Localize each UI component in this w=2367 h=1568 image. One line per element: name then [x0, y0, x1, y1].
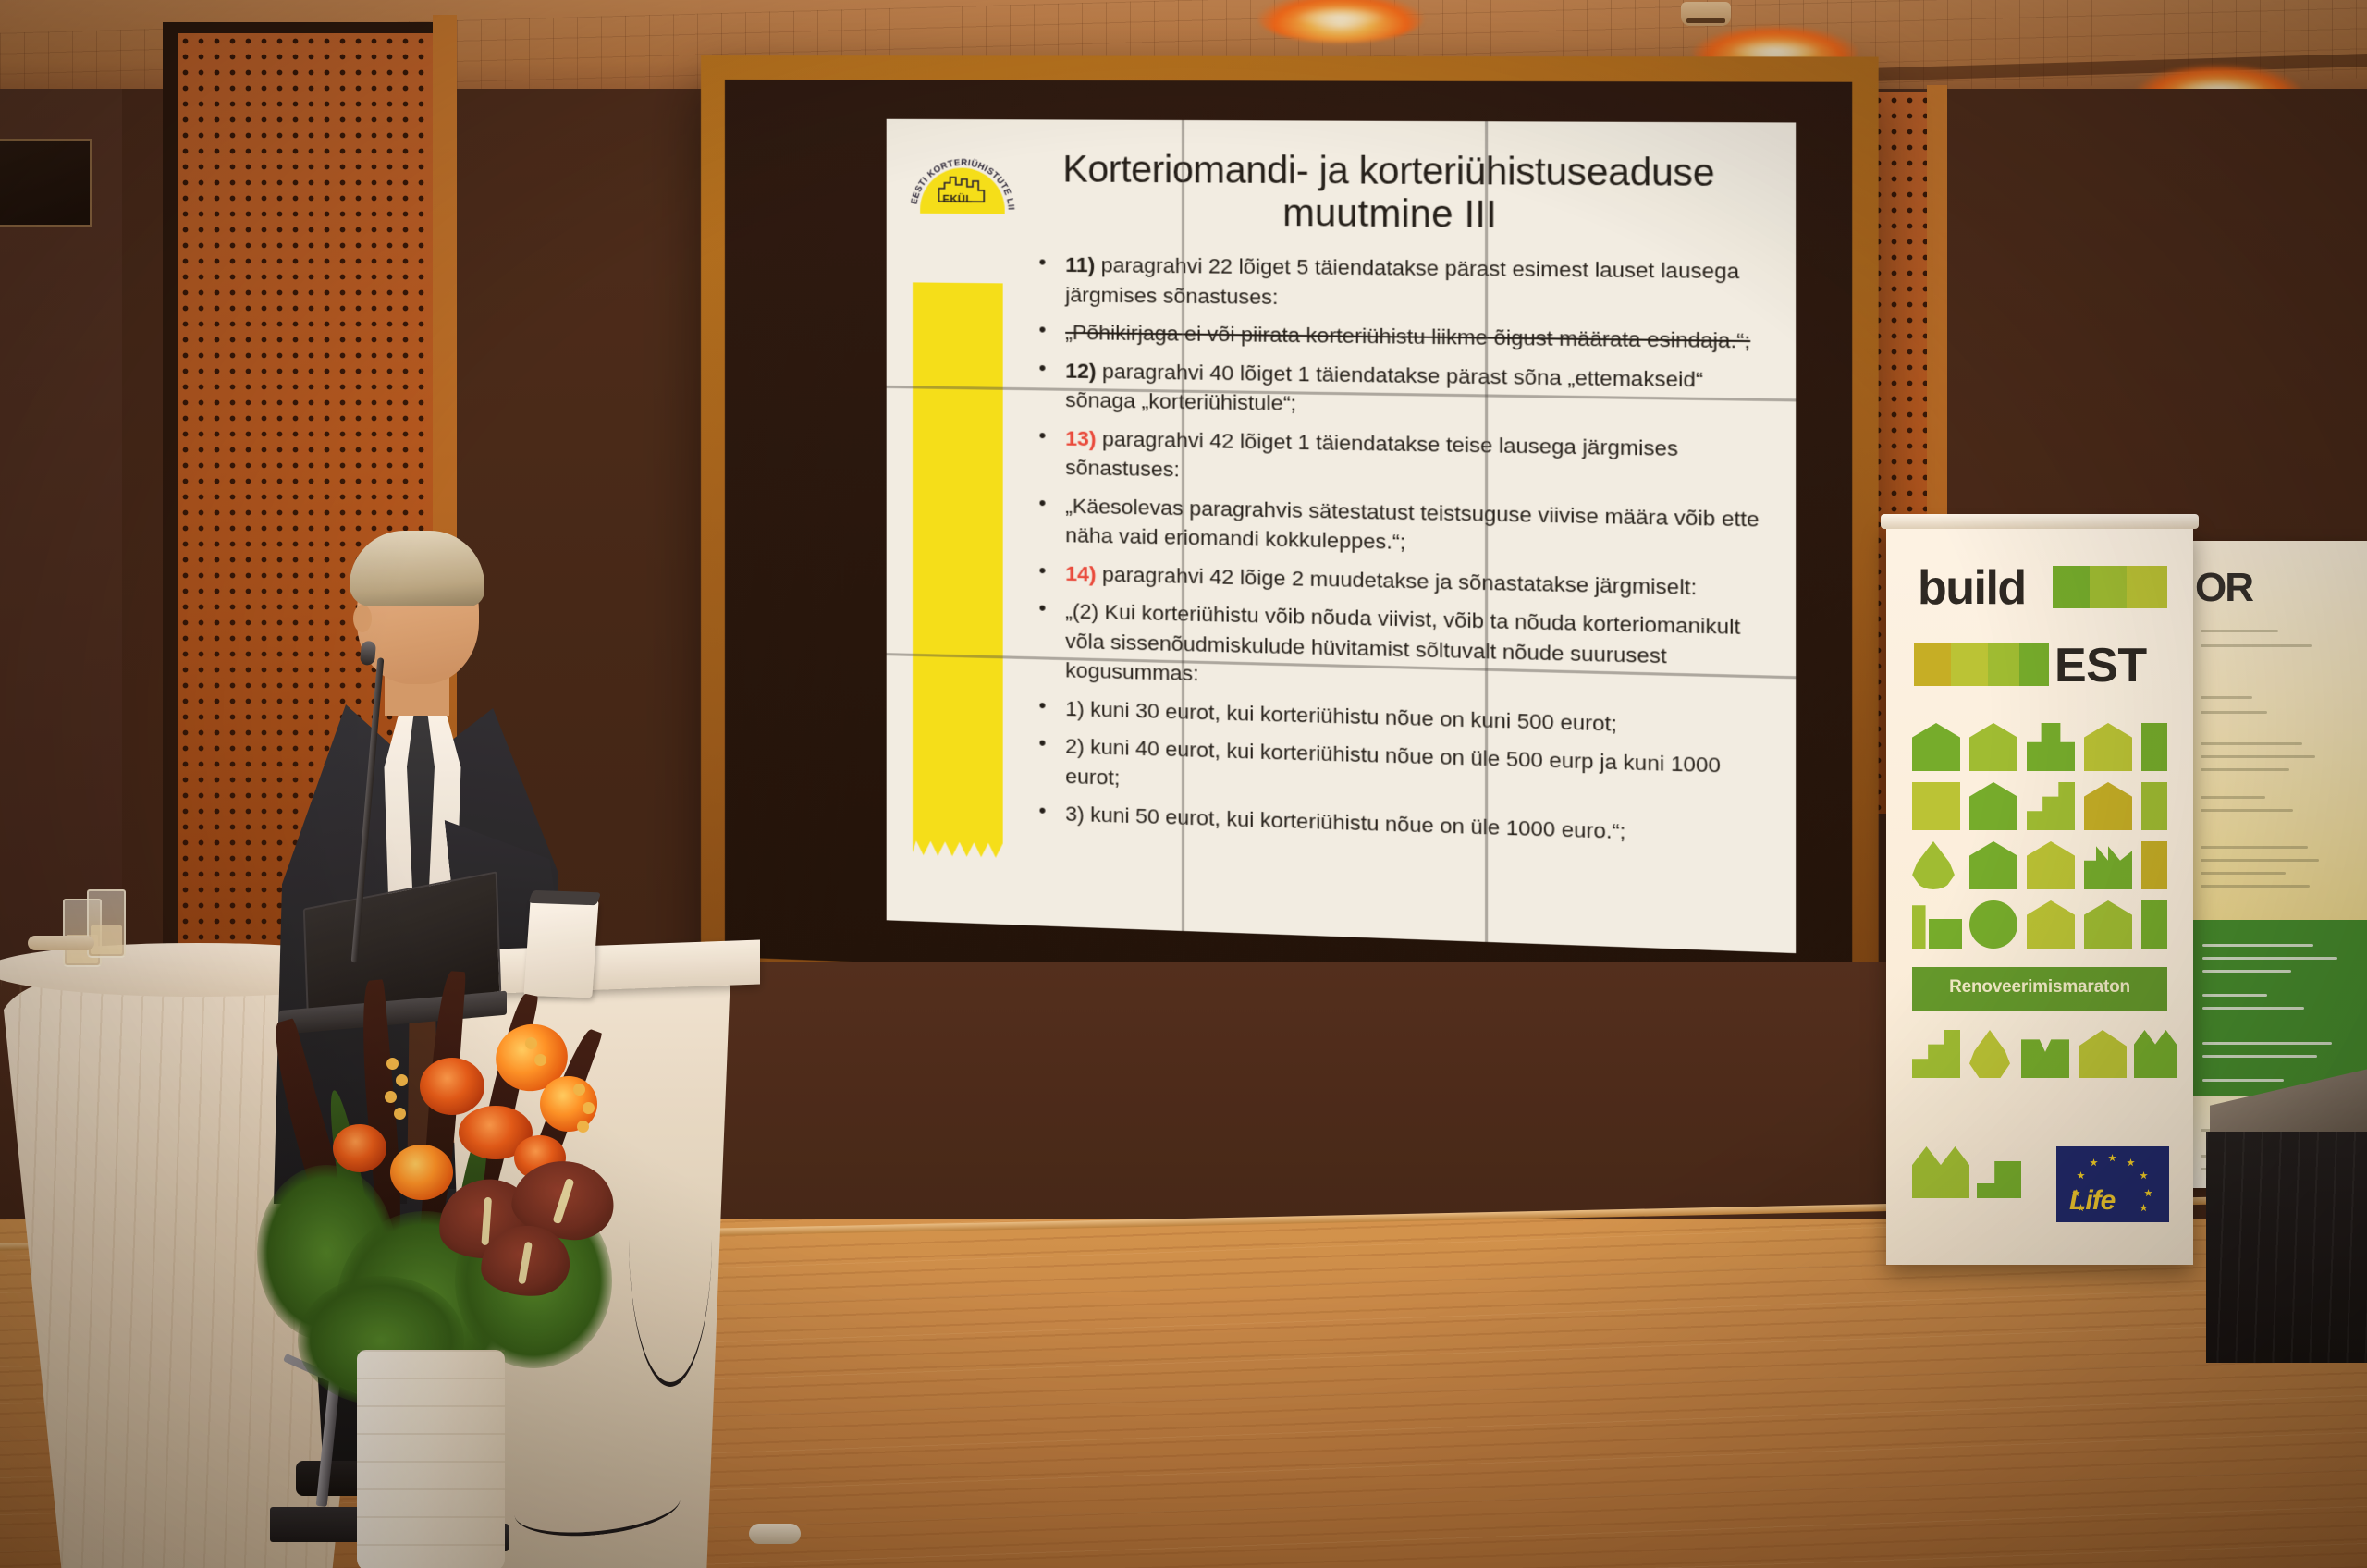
color-swatch: [2019, 643, 2049, 686]
side-table-skirt: [2206, 1132, 2367, 1363]
life-wordmark: Life: [2069, 1185, 2115, 1217]
presentation-slide: EESTI KORTERIÜHISTUTE LIIT EKÜL Korterio…: [887, 119, 1797, 953]
house-icon: [1969, 782, 2017, 830]
color-swatch: [1914, 643, 1951, 686]
building-icon: [2141, 841, 2167, 889]
color-swatch: [1951, 643, 1988, 686]
build-est-rollup-banner: build EST: [1886, 525, 2193, 1265]
berry-spray: [525, 1037, 537, 1049]
slide-title-line2: muutmine III: [1027, 191, 1761, 239]
banner-top-cap: [1881, 514, 2199, 529]
protea-bloom: [390, 1145, 453, 1200]
conference-hall-photo: EESTI KORTERIÜHISTUTE LIIT EKÜL Korterio…: [0, 0, 2367, 1568]
renovation-marathon-ribbon: Renoveerimismaraton: [1912, 967, 2167, 1011]
berry-spray: [394, 1108, 406, 1120]
eu-life-logo: Life: [2056, 1146, 2169, 1222]
chrysanthemum-bloom: [333, 1124, 386, 1172]
bullet-text: „Põhikirjaga ei või piirata korteriühist…: [1065, 321, 1750, 353]
smoke-detector-icon: [1681, 2, 1731, 26]
cable: [629, 1091, 712, 1387]
slide-bullet-item: „Käesolevas paragrahvis sätestatust teis…: [1027, 491, 1761, 566]
ribbon-label: Renoveerimismaraton: [1912, 977, 2167, 998]
house-icon: [2027, 841, 2075, 889]
berry-spray: [534, 1054, 546, 1066]
berry-spray: [396, 1074, 408, 1086]
tower-icon: [2027, 723, 2075, 771]
mic-base: [749, 1524, 801, 1544]
factory-icon: [2084, 841, 2132, 889]
stairs-icon: [2027, 782, 2075, 830]
slide-bullet-item: 13) paragrahvi 42 lõiget 1 täiendatakse …: [1027, 423, 1761, 496]
bullet-number: 13): [1065, 426, 1096, 450]
bezel-line-vertical: [1485, 121, 1488, 942]
napkin: [28, 936, 94, 950]
house-icon: [2084, 900, 2132, 949]
building-icon: [2141, 782, 2167, 830]
side-table: [2210, 1080, 2367, 1357]
bullet-number: 12): [1065, 359, 1096, 383]
bullet-text: 1) kuni 30 eurot, kui korteriühistu nõue…: [1065, 697, 1617, 736]
circle-icon: [1969, 900, 2017, 949]
flower-vase: [357, 1350, 505, 1568]
slide-content: Korteriomandi- ja korteriühistuseaduse m…: [887, 119, 1797, 953]
house-icon: [2027, 900, 2075, 949]
presenter-ear: [353, 605, 372, 632]
house-icon: [2084, 782, 2132, 830]
house-icon: [2084, 723, 2132, 771]
bullet-text: paragrahvi 40 lõiget 1 täiendatakse pära…: [1065, 360, 1703, 416]
bullet-text: „Käesolevas paragrahvis sätestatust teis…: [1065, 494, 1759, 554]
color-swatch: [2127, 566, 2167, 608]
color-swatch: [1988, 643, 2019, 686]
house-icon: [1969, 841, 2017, 889]
bullet-text: paragrahvi 42 lõiget 1 täiendatakse teis…: [1065, 427, 1678, 482]
slide-title-line1: Korteriomandi- ja korteriühistuseaduse: [1027, 144, 1761, 196]
slide-bullet-item: 14) paragrahvi 42 lõige 2 muudetakse ja …: [1027, 557, 1761, 604]
house-icon: [1969, 723, 2017, 771]
banner-word-build: build: [1918, 564, 2026, 612]
house-icon: [1912, 723, 1960, 771]
berry-spray: [577, 1121, 589, 1133]
bullet-text: 2) kuni 40 eurot, kui korteriühistu nõue…: [1065, 735, 1721, 790]
droplet-icon: [1912, 841, 1955, 889]
banner-word-est: EST: [2054, 642, 2147, 690]
bezel-line-vertical: [1182, 120, 1184, 931]
video-wall: EESTI KORTERIÜHISTUTE LIIT EKÜL Korterio…: [701, 55, 1879, 1026]
berry-spray: [385, 1091, 397, 1103]
bars-icon: [1929, 919, 1962, 949]
berry-spray: [386, 1058, 399, 1070]
bullet-text: paragrahvi 42 lõige 2 muudetakse ja sõna…: [1097, 562, 1698, 599]
presenter-hair: [350, 531, 484, 606]
apartment-icon: [1912, 782, 1960, 830]
bullet-text: paragrahvi 22 lõiget 5 täiendatakse pära…: [1065, 253, 1739, 309]
slide-bullet-list: 11) paragrahvi 22 lõiget 5 täiendatakse …: [1027, 251, 1761, 852]
berry-spray: [583, 1102, 595, 1114]
slide-bullet-item: 2) kuni 40 eurot, kui korteriühistu nõue…: [1027, 730, 1761, 812]
color-swatch: [2053, 566, 2090, 608]
banner-partial-text: OR: [2195, 565, 2252, 611]
building-icon: [2141, 723, 2167, 771]
slide-bullet-item: „Põhikirjaga ei või piirata korteriühist…: [1027, 318, 1761, 357]
slide-bullet-item: 11) paragrahvi 22 lõiget 5 täiendatakse …: [1027, 251, 1761, 318]
building-icon: [2141, 900, 2167, 949]
wall-monitor: [0, 139, 92, 227]
slide-bullet-item: „(2) Kui korteriühistu võib nõuda viivis…: [1027, 596, 1761, 704]
bullet-text: 3) kuni 50 eurot, kui korteriühistu nõue…: [1065, 802, 1625, 844]
color-swatch: [2090, 566, 2127, 608]
flower-arrangement: [248, 980, 636, 1568]
banner-green-block: [2193, 920, 2367, 1096]
berry-spray: [573, 1084, 585, 1096]
bullet-number: 11): [1065, 253, 1095, 277]
factory-icon: [1912, 1146, 1969, 1198]
bullet-number: 14): [1065, 561, 1096, 585]
stairs-icon: [1977, 1161, 2021, 1198]
chrysanthemum-bloom: [420, 1058, 484, 1115]
